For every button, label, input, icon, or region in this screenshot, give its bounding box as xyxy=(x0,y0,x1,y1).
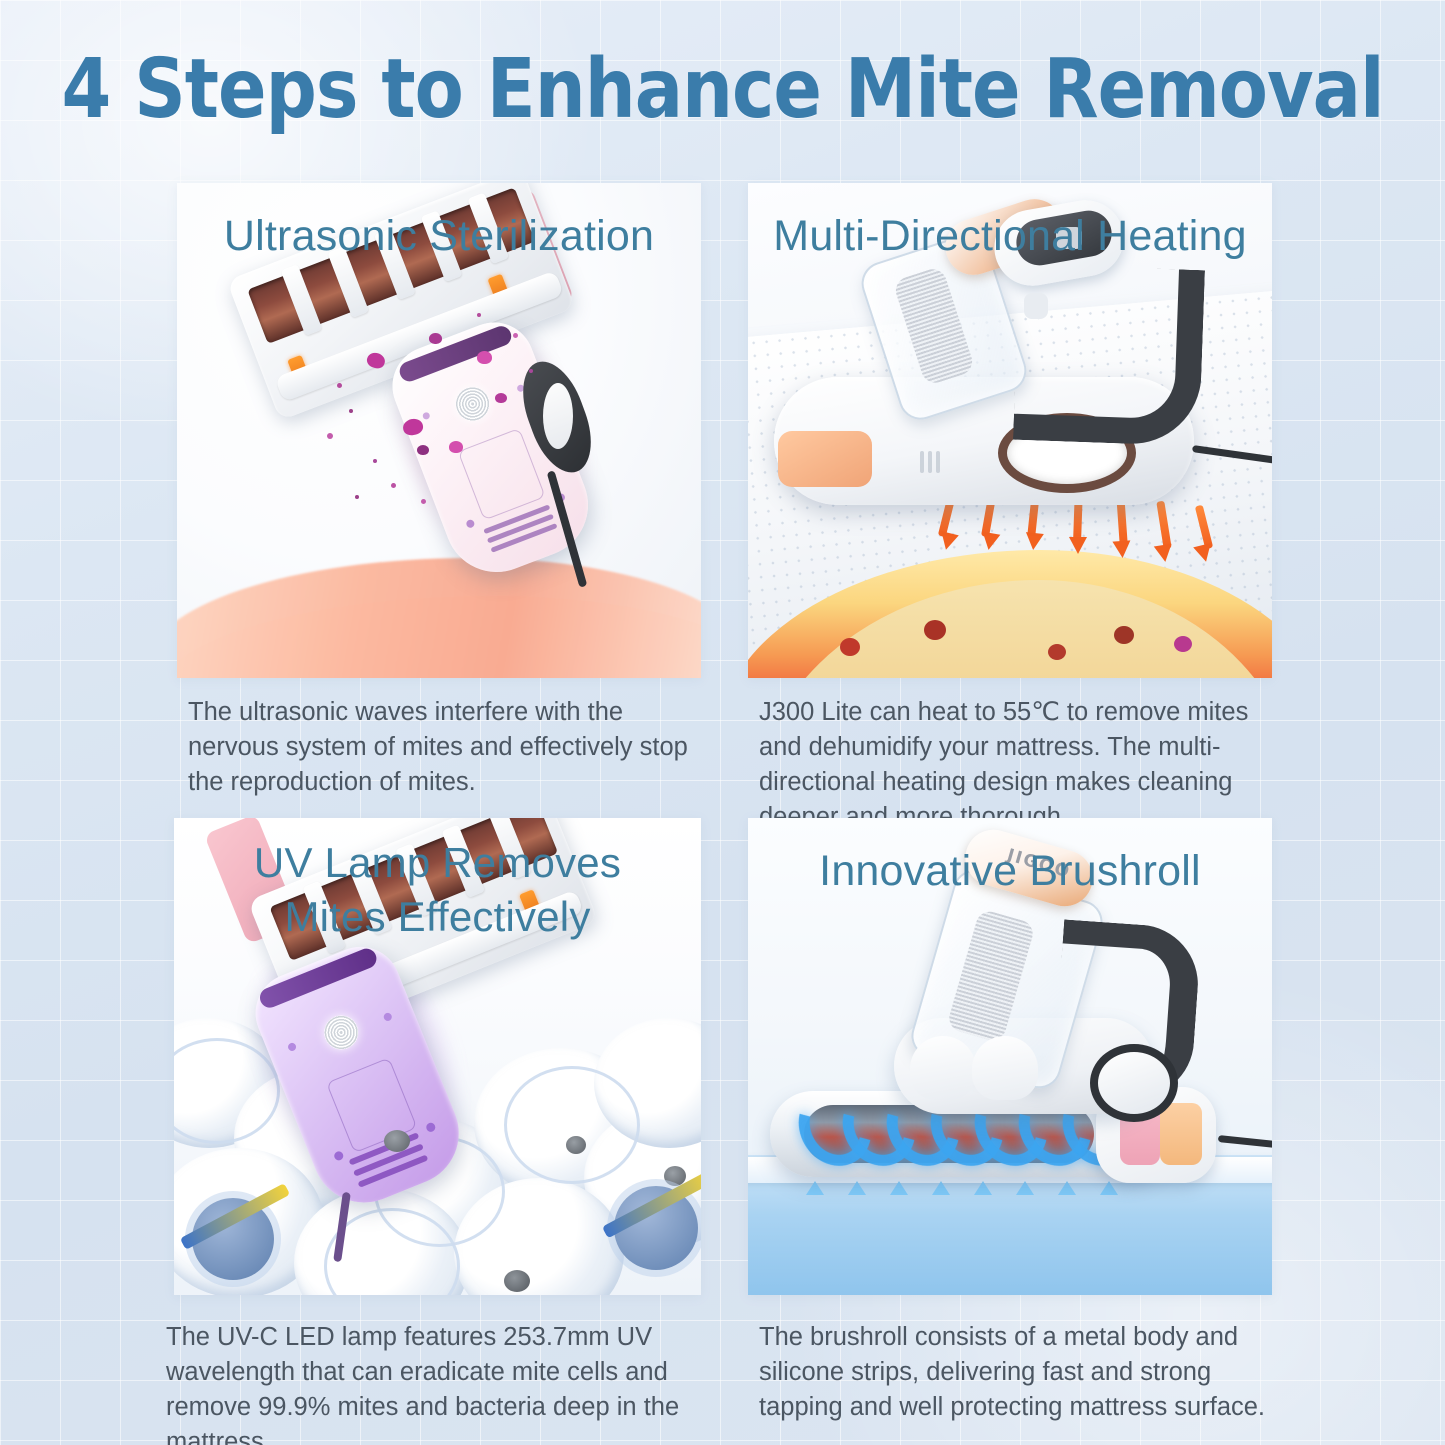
infographic-page: 4 Steps to Enhance Mite Removal xyxy=(0,0,1445,1445)
feature-image-ultrasonic: Ultrasonic Sterilization xyxy=(177,183,701,678)
feature-image-heating: Multi-Directional Heating xyxy=(748,183,1272,678)
card-title-uv-lamp: UV Lamp Removes Mites Effectively xyxy=(174,836,701,944)
feature-card-ultrasonic: Ultrasonic Sterilization The ultrasonic … xyxy=(177,183,701,678)
feature-card-uv-lamp: UV Lamp Removes Mites Effectively The UV… xyxy=(174,818,701,1295)
card-title-brushroll: Innovative Brushroll xyxy=(748,844,1272,899)
card-body-brushroll: The brushroll consists of a metal body a… xyxy=(759,1320,1279,1425)
card-body-ultrasonic: The ultrasonic waves interfere with the … xyxy=(188,695,688,800)
page-title: 4 Steps to Enhance Mite Removal xyxy=(22,42,1424,138)
vacuum-illustration xyxy=(233,201,653,621)
feature-card-brushroll: JIGOO Innovative Brushroll The brushroll… xyxy=(748,818,1272,1295)
card-title-heating: Multi-Directional Heating xyxy=(748,209,1272,264)
card-title-ultrasonic: Ultrasonic Sterilization xyxy=(177,209,701,264)
card-body-heating: J300 Lite can heat to 55℃ to remove mite… xyxy=(759,695,1264,835)
feature-image-brushroll: JIGOO Innovative Brushroll xyxy=(748,818,1272,1295)
feature-card-heating: Multi-Directional Heating J300 Lite can … xyxy=(748,183,1272,678)
card-body-uv-lamp: The UV-C LED lamp features 253.7mm UV wa… xyxy=(166,1320,706,1445)
feature-image-uv-lamp: UV Lamp Removes Mites Effectively xyxy=(174,818,701,1295)
